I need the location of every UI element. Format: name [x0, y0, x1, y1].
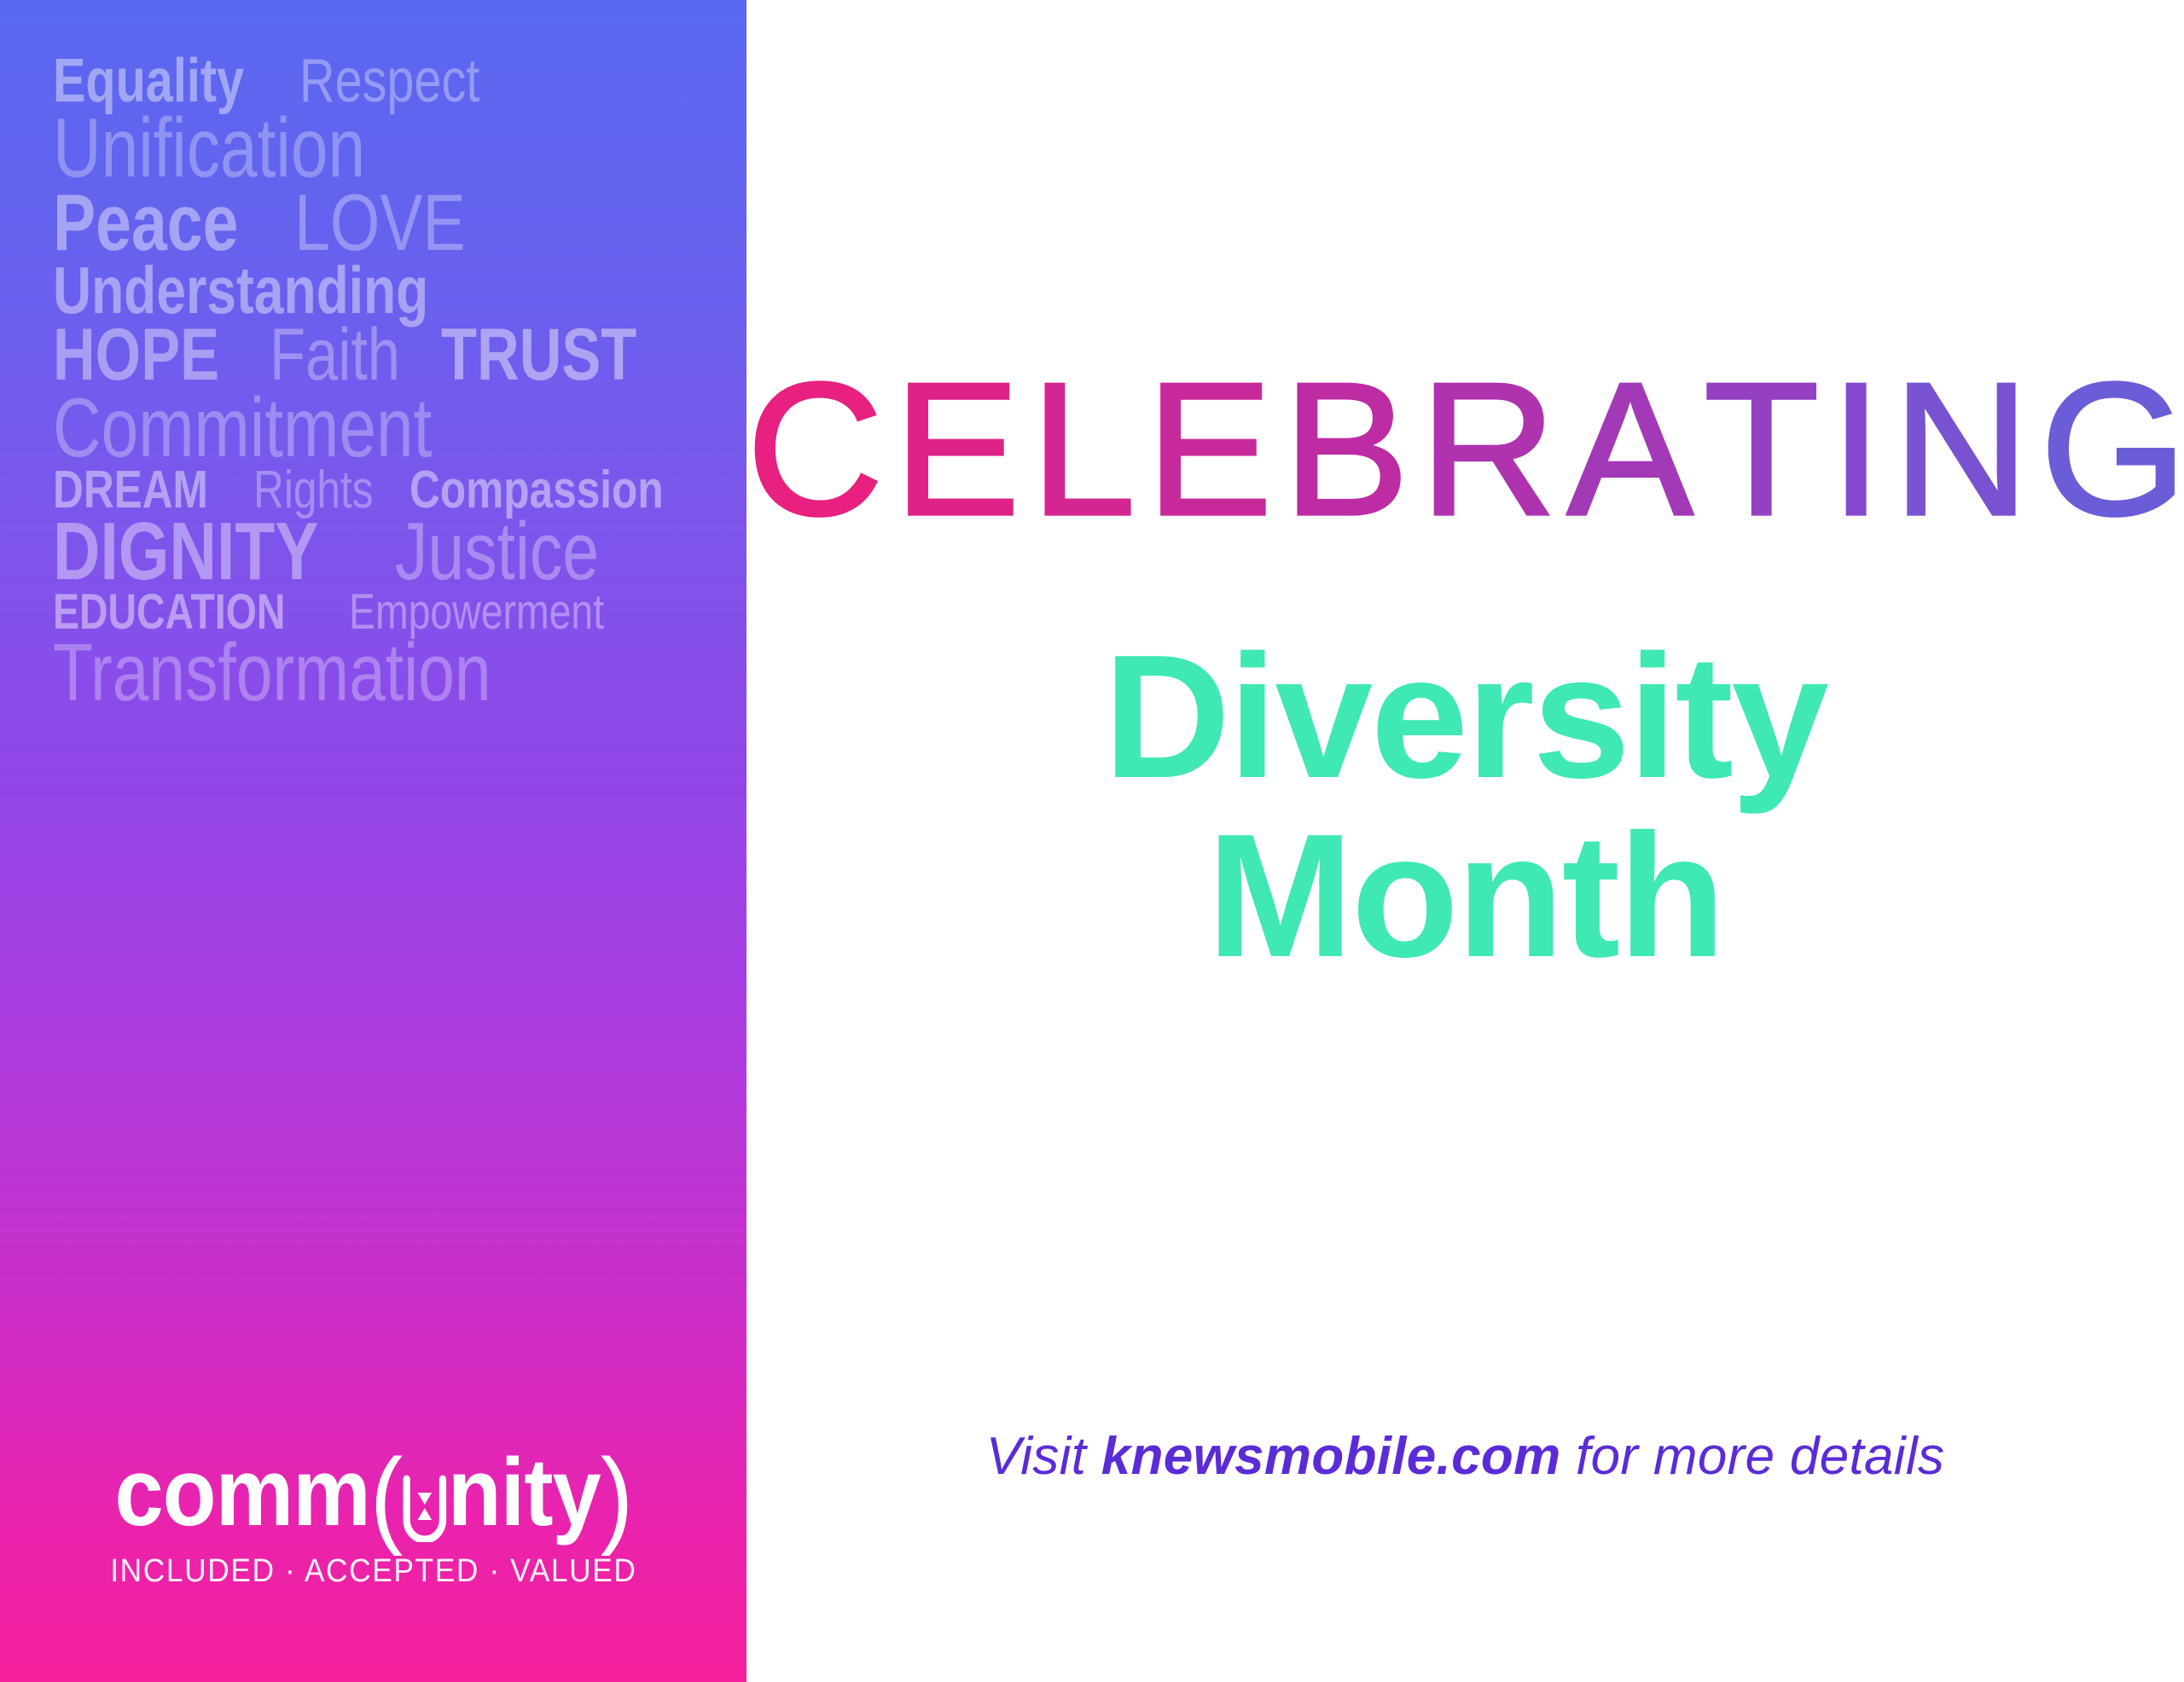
- headline-line-2: Month: [746, 806, 2184, 985]
- word-cloud-line: Peace LOVE: [0, 186, 746, 259]
- footer-suffix: for more details: [1561, 1427, 1945, 1486]
- poster-canvas: Equality Respect Unification Peace LOVE …: [0, 0, 2184, 1682]
- word-cloud-line: Unification: [0, 109, 746, 186]
- logo-prefix: comm: [114, 1445, 369, 1540]
- footer-website-link[interactable]: knewsmobile.com: [1101, 1427, 1561, 1486]
- logo-wordmark: comm ( nity ): [114, 1445, 632, 1541]
- word-cloud-term: Unification: [53, 109, 365, 186]
- word-cloud-term: Peace: [53, 186, 238, 259]
- logo-close-paren: ): [600, 1448, 632, 1545]
- celebrating-letter: L: [1031, 355, 1147, 544]
- word-cloud-line: Transformation: [0, 635, 746, 710]
- values-word-cloud: Equality Respect Unification Peace LOVE …: [0, 0, 746, 710]
- word-cloud-term: Understanding: [53, 260, 428, 322]
- word-cloud-term: DIGNITY: [53, 514, 318, 589]
- word-cloud-term: HOPE: [53, 322, 219, 389]
- unity-arrows-icon: [400, 1462, 449, 1534]
- community-logo: comm ( nity ) INC: [0, 1445, 746, 1590]
- right-content-panel: CELEBRATING Diversity Month Visit knewsm…: [746, 0, 2184, 1682]
- word-cloud-term: Faith: [270, 322, 400, 389]
- celebrating-letter: R: [1420, 355, 1567, 544]
- page-title: Diversity Month: [746, 627, 2184, 985]
- word-cloud-term: Commitment: [53, 389, 432, 466]
- word-cloud-term: Transformation: [53, 635, 491, 710]
- word-cloud-line: DIGNITY Justice: [0, 514, 746, 589]
- logo-open-paren: (: [369, 1448, 402, 1545]
- word-cloud-line: Understanding: [0, 260, 746, 322]
- celebrating-letter: A: [1567, 355, 1704, 544]
- footer-visit-note: Visit knewsmobile.com for more details: [746, 1426, 2184, 1487]
- word-cloud-line: Commitment: [0, 389, 746, 466]
- celebrating-letter: T: [1704, 355, 1830, 544]
- celebrating-title: CELEBRATING: [746, 355, 2184, 544]
- celebrating-letter: G: [2040, 355, 2184, 544]
- celebrating-letter: I: [1830, 355, 1893, 544]
- footer-prefix: Visit: [986, 1427, 1101, 1486]
- celebrating-letter: B: [1283, 355, 1420, 544]
- word-cloud-term: LOVE: [294, 186, 466, 259]
- headline-line-1: Diversity: [746, 627, 2184, 806]
- word-cloud-term: TRUST: [441, 322, 636, 389]
- left-gradient-panel: Equality Respect Unification Peace LOVE …: [0, 0, 746, 1682]
- word-cloud-line: HOPE Faith TRUST: [0, 322, 746, 389]
- logo-suffix: nity: [447, 1445, 600, 1540]
- celebrating-letter: E: [1147, 355, 1283, 544]
- celebrating-letter: C: [746, 355, 894, 544]
- celebrating-letter: E: [894, 355, 1031, 544]
- logo-tagline: INCLUDED · ACCEPTED · VALUED: [110, 1553, 636, 1590]
- word-cloud-term: Justice: [395, 514, 599, 589]
- celebrating-letter: N: [1893, 355, 2041, 544]
